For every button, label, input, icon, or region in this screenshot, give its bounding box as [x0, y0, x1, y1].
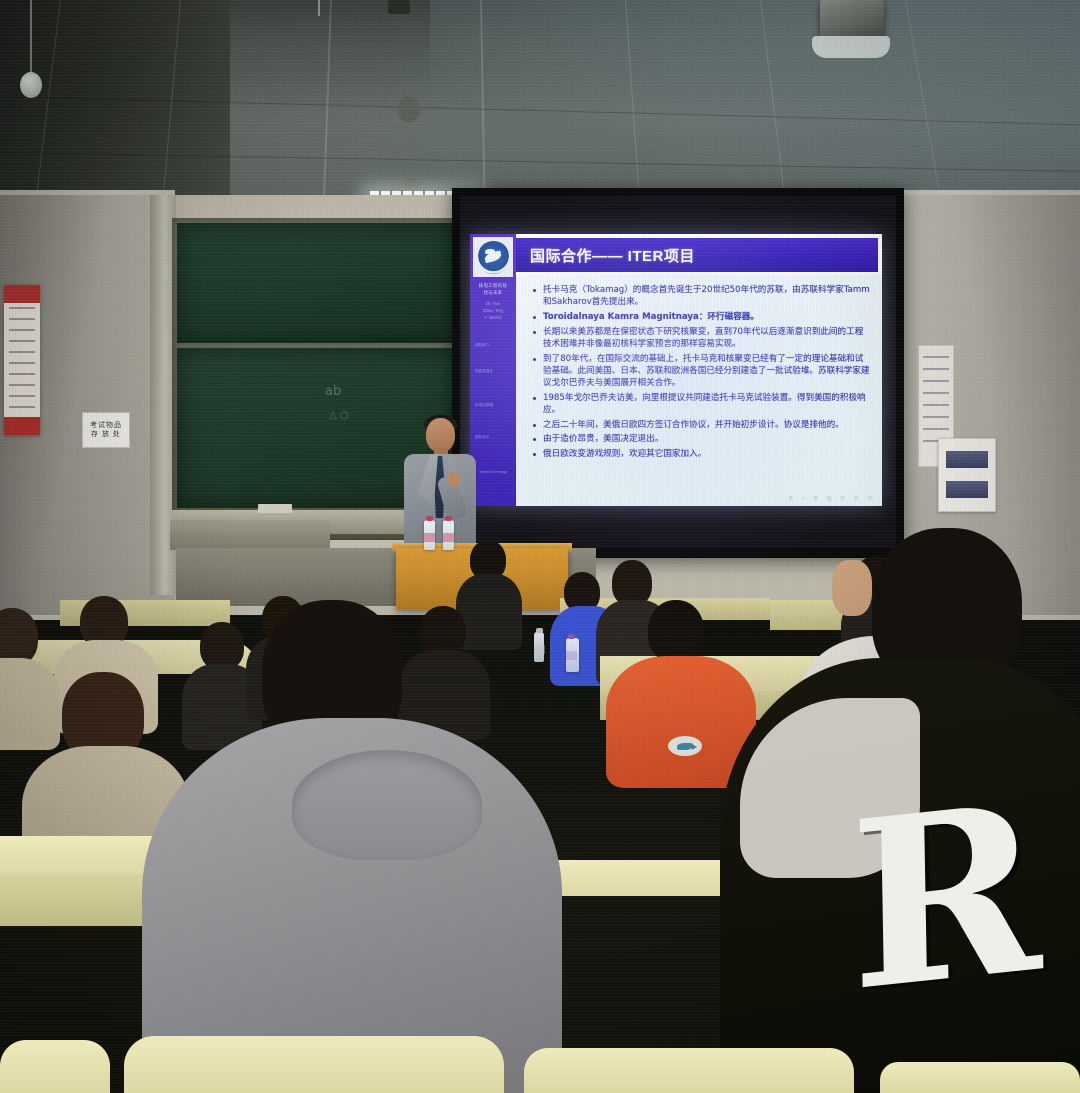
- bottle-label: [566, 651, 577, 660]
- sidebar-toc-1: 课程简介: [475, 342, 511, 348]
- student-torso: [0, 658, 60, 750]
- lecturer: [398, 418, 478, 558]
- bottle-cap: [568, 634, 575, 639]
- emblem-ring: [477, 241, 510, 274]
- water-bottle: [566, 638, 579, 672]
- hoodie-fish-badge-icon: [668, 736, 702, 756]
- ceiling-seam: [323, 0, 332, 205]
- slide-bullet: Toroidalnaya Kamra Magnitnaya：环行磁容器。: [530, 311, 870, 323]
- board-ledge: [170, 520, 330, 550]
- sign-line-2: 存 放 处: [91, 430, 121, 439]
- sidebar-toc-2: 核能发展史: [475, 368, 511, 374]
- emblem-glyph: [484, 250, 503, 263]
- chair-back-front-left: [0, 1040, 110, 1093]
- screen-surface: 核电工程的现 状与未来 Dr. Yue Zhao, Ting Y. WANG 课…: [460, 196, 896, 548]
- bottle-cap: [426, 516, 433, 521]
- presentation-slide: 核电工程的现 状与未来 Dr. Yue Zhao, Ting Y. WANG 课…: [470, 234, 882, 506]
- projector-lens-icon: [812, 36, 890, 58]
- slide-footer-item: 作: [868, 496, 873, 503]
- bottle-cap: [536, 628, 543, 633]
- chair-back-front-right: [524, 1048, 854, 1093]
- chair-back-front-center: [124, 1036, 504, 1093]
- slide-bullet: 托卡马克（Tokamag）的概念首先诞生于20世纪50年代的苏联，由苏联科学家T…: [530, 284, 870, 308]
- hoodie-hood: [292, 750, 482, 860]
- student-head: [648, 600, 704, 662]
- bottle-label: [424, 533, 435, 542]
- slide-bullet-list: 托卡马克（Tokamag）的概念首先诞生于20世纪50年代的苏联，由苏联科学家T…: [530, 284, 870, 460]
- chair-back-front-far-right: [880, 1062, 1080, 1093]
- hanging-bulb-icon: [20, 72, 42, 98]
- red-bordered-notice: [4, 285, 40, 435]
- ceiling: [0, 0, 1080, 215]
- notice-bar: [946, 451, 988, 468]
- ceiling-right-tint: [430, 0, 1080, 215]
- sidebar-toc-4: 国际合作: [475, 434, 511, 440]
- slide-footer-item: 章: [814, 496, 819, 503]
- student-torso: [456, 574, 522, 650]
- slide-body: 托卡马克（Tokamag）的概念首先诞生于20世纪50年代的苏联，由苏联科学家T…: [516, 274, 882, 506]
- slide-bullet: 由于造价昂贵，美国决定退出。: [530, 433, 870, 445]
- slide-bullet: 之后二十年间，美俄日欧四方签订合作协议，并开始初步设计。协议是排他的。: [530, 419, 870, 431]
- slide-bullet: 1985年戈尔巴乔夫访美，向里根提议共同建造托卡马克试验装置。得到美国的积极响应…: [530, 392, 870, 416]
- sidebar-course-title: 核电工程的现 状与未来: [474, 282, 512, 296]
- ceiling-fixture: [388, 0, 410, 14]
- lecture-hall-photo: 考试物品 存 放 处 ab △ ○: [0, 0, 1080, 1093]
- desk-row-front: [540, 860, 740, 896]
- bottle-label: [534, 645, 545, 654]
- slide-bullet: 到了80年代，在国际交流的基础上，托卡马克和核聚变已经有了一定的理论基础和试验基…: [530, 353, 870, 390]
- exam-items-sign: 考试物品 存 放 处: [82, 412, 130, 448]
- notice-bar: [946, 481, 988, 498]
- slide-footer-item: 合: [854, 496, 859, 503]
- student-hand: [832, 560, 872, 616]
- smoke-detector-icon: [398, 96, 420, 122]
- slide-footer-item: 国: [827, 496, 832, 503]
- ceiling-left-shadow: [0, 0, 230, 215]
- projector-icon: [820, 0, 884, 40]
- slide-footer-item: 际: [841, 496, 846, 503]
- water-bottle: [443, 520, 454, 550]
- student-head: [200, 622, 244, 670]
- sidebar-toc-3: 核电站原理: [475, 402, 511, 408]
- slide-bullet: 俄日欧改变游戏规则，欢迎其它国家加入。: [530, 448, 870, 460]
- sidebar-footer: School of Energy: [475, 470, 511, 474]
- student-head: [420, 606, 466, 656]
- slide-footer-item: 第: [788, 496, 793, 503]
- bottle-cap: [445, 516, 452, 521]
- slide-title-bar: 国际合作—— ITER项目: [516, 238, 878, 272]
- hanging-rod: [30, 0, 32, 76]
- hoodie-logo-R: R: [849, 788, 1043, 1009]
- university-emblem-icon: [473, 237, 513, 277]
- slide-title: 国际合作—— ITER项目: [516, 245, 695, 266]
- chalkboard-eraser: [258, 504, 292, 513]
- chalk-mark: ab: [325, 384, 341, 399]
- wall-notice-board: [938, 438, 996, 512]
- lecturer-head: [426, 418, 455, 452]
- slide-bullet: 长期以来美苏都是在保密状态下研究核聚变，直到70年代以后逐渐意识到此间的工程技术…: [530, 326, 870, 350]
- slide-footer-item: 4: [802, 496, 805, 503]
- fish-icon: [677, 743, 693, 750]
- hanging-rod: [318, 0, 320, 16]
- bottle-label: [443, 533, 454, 542]
- water-bottle: [534, 632, 544, 662]
- chalkboard-panel-top: [177, 223, 467, 343]
- sidebar-author: Dr. Yue Zhao, Ting Y. WANG: [474, 300, 512, 321]
- projection-screen: 核电工程的现 状与未来 Dr. Yue Zhao, Ting Y. WANG 课…: [452, 188, 904, 558]
- sign-line-1: 考试物品: [90, 421, 122, 430]
- water-bottle: [424, 520, 435, 550]
- poster-text-lines: [9, 307, 35, 413]
- slide-footer: 第4章国际合作: [530, 496, 872, 503]
